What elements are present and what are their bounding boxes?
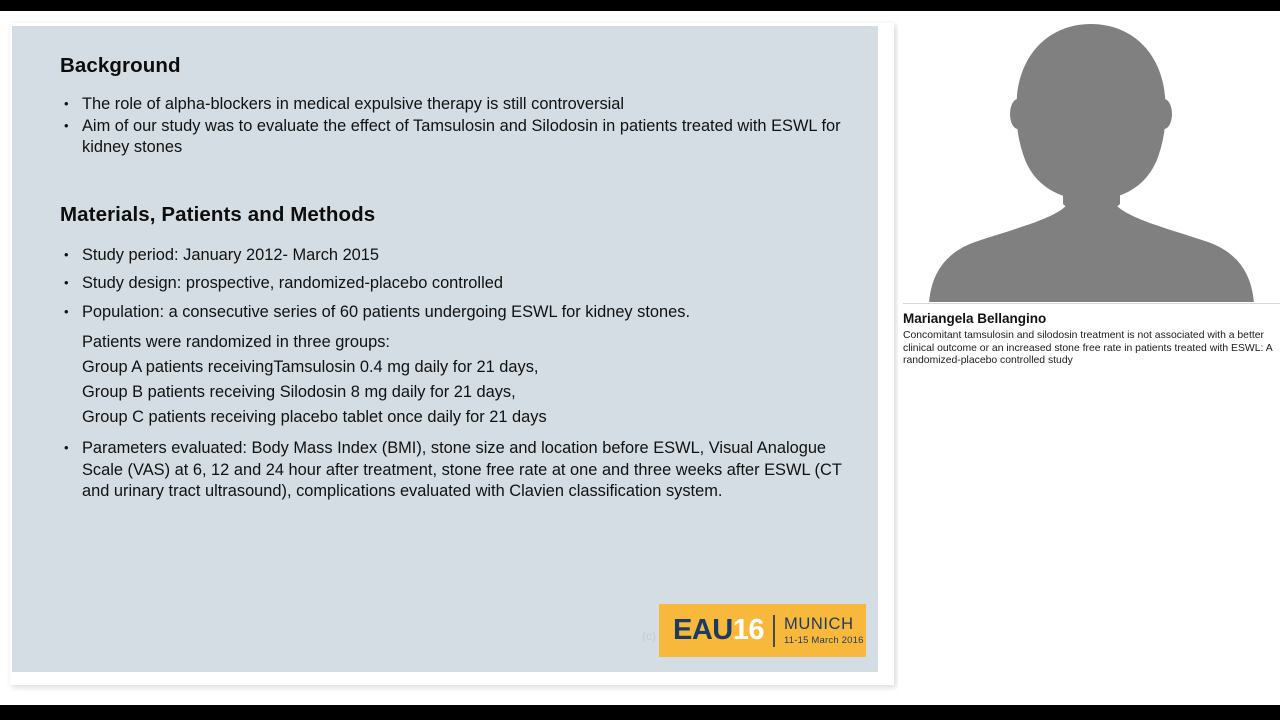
letterbox-top: [0, 0, 1280, 11]
logo-location-block: MUNICH 11-15 March 2016: [784, 616, 864, 645]
logo-divider: [773, 615, 775, 647]
slide-canvas[interactable]: Background The role of alpha-blockers in…: [12, 26, 878, 672]
logo-dates-text: 11-15 March 2016: [784, 636, 864, 646]
copyright-watermark: (c): [642, 629, 656, 643]
list-item: Population: a consecutive series of 60 p…: [60, 302, 866, 324]
logo-city-text: MUNICH: [784, 616, 864, 633]
list-item: The role of alpha-blockers in medical ex…: [60, 94, 866, 116]
background-bullet-list: The role of alpha-blockers in medical ex…: [60, 94, 866, 159]
list-item: Study period: January 2012- March 2015: [60, 245, 866, 267]
group-line: Group C patients receiving placebo table…: [60, 405, 866, 430]
avatar: [903, 11, 1280, 302]
list-item: Study design: prospective, randomized-pl…: [60, 273, 866, 295]
letterbox-bottom: [0, 705, 1280, 720]
talk-title: Concomitant tamsulosin and silodosin tre…: [903, 330, 1275, 368]
slide-viewer[interactable]: Background The role of alpha-blockers in…: [0, 11, 898, 687]
section-heading-background: Background: [60, 54, 866, 78]
logo-year-text: 16: [733, 614, 764, 646]
parameters-bullet-list: Parameters evaluated: Body Mass Index (B…: [60, 438, 866, 503]
logo-brand-text: EAU: [673, 614, 733, 646]
section-spacer: [60, 159, 866, 203]
slide-content: Background The role of alpha-blockers in…: [60, 54, 866, 503]
eau16-congress-logo: EAU16 MUNICH 11-15 March 2016: [659, 604, 866, 657]
list-item: Parameters evaluated: Body Mass Index (B…: [60, 438, 866, 503]
speaker-name: Mariangela Bellangino: [903, 310, 1275, 327]
panel-divider: [903, 303, 1280, 304]
presentation-stage: Background The role of alpha-blockers in…: [0, 11, 1280, 705]
person-placeholder-icon: [903, 11, 1280, 302]
list-item: Aim of our study was to evaluate the eff…: [60, 116, 866, 159]
group-line: Group A patients receivingTamsulosin 0.4…: [60, 355, 866, 380]
logo-wordmark: EAU16: [673, 616, 764, 645]
speaker-info-panel: Mariangela Bellangino Concomitant tamsul…: [898, 11, 1280, 705]
group-line: Patients were randomized in three groups…: [60, 330, 866, 355]
methods-bullet-list: Study period: January 2012- March 2015 S…: [60, 245, 866, 324]
group-line: Group B patients receiving Silodosin 8 m…: [60, 380, 866, 405]
speaker-details: Mariangela Bellangino Concomitant tamsul…: [903, 310, 1275, 368]
section-heading-methods: Materials, Patients and Methods: [60, 203, 866, 227]
